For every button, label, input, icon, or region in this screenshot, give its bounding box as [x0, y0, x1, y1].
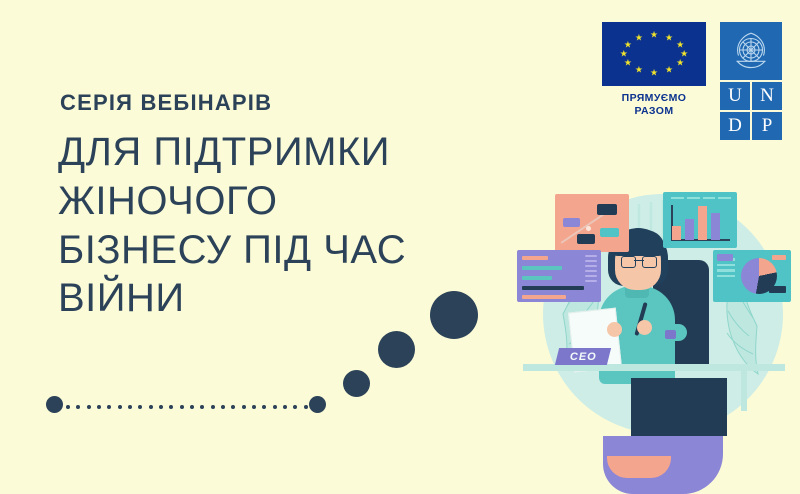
businesswoman-illustration: CEO — [505, 172, 800, 449]
eu-star-icon: ★ — [650, 68, 658, 77]
decor-small-dot — [283, 405, 287, 409]
logo-lockup: ★★★★★★★★★★★★ ПРЯМУЄМО РАЗОМ — [602, 22, 782, 140]
ceo-nameplate: CEO — [555, 348, 611, 365]
eu-star-icon: ★ — [650, 31, 658, 40]
decor-small-dot — [190, 405, 194, 409]
decor-dot-cap-right — [309, 396, 326, 413]
eu-star-icon: ★ — [635, 66, 643, 75]
left-hand — [607, 322, 622, 337]
decor-small-dot — [76, 405, 80, 409]
bar-chart-bar — [711, 213, 720, 240]
eu-logo: ★★★★★★★★★★★★ ПРЯМУЄМО РАЗОМ — [602, 22, 706, 118]
decor-small-dot — [293, 405, 297, 409]
decor-small-dot — [211, 405, 215, 409]
eu-star-icon: ★ — [624, 40, 632, 49]
flow-node-teal — [600, 228, 619, 237]
undp-letter-u: U — [720, 82, 750, 110]
task-list-row — [522, 256, 548, 260]
title-line-2: ЖІНОЧОГО — [58, 177, 488, 226]
flow-node-purple — [563, 218, 580, 227]
headline-block: СЕРІЯ ВЕБІНАРІВ ДЛЯ ПІДТРИМКИ ЖІНОЧОГО Б… — [58, 92, 488, 323]
eu-star-icon: ★ — [620, 50, 628, 59]
undp-letter-grid: U N D P — [720, 82, 782, 140]
poster-canvas: СЕРІЯ ВЕБІНАРІВ ДЛЯ ПІДТРИМКИ ЖІНОЧОГО Б… — [0, 0, 800, 449]
eu-star-icon: ★ — [676, 59, 684, 68]
decor-small-dot — [252, 405, 256, 409]
desk-surface — [523, 364, 785, 371]
decor-small-dot — [304, 405, 308, 409]
decor-small-dot — [159, 405, 163, 409]
decor-small-dot — [169, 405, 173, 409]
eu-caption-line-2: РАЗОМ — [622, 105, 687, 118]
decor-small-dot — [221, 405, 225, 409]
un-emblem-icon — [720, 22, 782, 80]
ceo-nameplate-label: CEO — [570, 351, 597, 363]
leg — [607, 456, 671, 478]
page-title: ДЛЯ ПІДТРИМКИ ЖІНОЧОГО БІЗНЕСУ ПІД ЧАС В… — [58, 128, 488, 323]
task-list-row — [522, 295, 566, 299]
flow-node-navy-bottom — [577, 234, 595, 244]
decor-small-dot — [97, 405, 101, 409]
task-list-row — [522, 276, 552, 280]
decor-small-dot — [149, 405, 153, 409]
decor-small-dot — [180, 405, 184, 409]
decor-small-dot — [66, 405, 70, 409]
title-line-4: ВІЙНИ — [58, 274, 488, 323]
decor-small-dot — [314, 405, 318, 409]
task-list-row — [522, 286, 584, 290]
title-line-3: БІЗНЕСУ ПІД ЧАС — [58, 226, 488, 275]
eu-star-icon: ★ — [665, 33, 673, 42]
flow-joint — [586, 226, 591, 231]
pie-tag-salmon — [772, 255, 786, 260]
glasses-icon — [621, 256, 657, 266]
bar-chart-bars — [672, 206, 730, 240]
decor-circle-small — [343, 370, 370, 397]
eu-star-icon: ★ — [665, 66, 673, 75]
task-list-row — [522, 266, 562, 270]
decor-small-dot — [107, 405, 111, 409]
decor-small-dot — [262, 405, 266, 409]
undp-letter-n: N — [752, 82, 782, 110]
decor-small-dot — [118, 405, 122, 409]
decor-small-dot — [200, 405, 204, 409]
eu-flag-icon: ★★★★★★★★★★★★ — [602, 22, 706, 86]
decor-small-dot — [87, 405, 91, 409]
bar-chart-panel — [663, 192, 737, 248]
decor-dot-cap-left — [46, 396, 63, 413]
decor-small-dot — [138, 405, 142, 409]
task-list-panel — [517, 250, 601, 302]
eu-star-icon: ★ — [635, 33, 643, 42]
bar-chart-header — [671, 197, 731, 201]
bar-chart-bar — [672, 226, 681, 240]
undp-logo: U N D P — [720, 22, 782, 140]
title-line-1: ДЛЯ ПІДТРИМКИ — [58, 128, 488, 177]
decor-small-dot — [273, 405, 277, 409]
wristwatch-icon — [665, 330, 676, 339]
eu-caption: ПРЯМУЄМО РАЗОМ — [622, 92, 687, 118]
pie-chart-panel — [713, 250, 791, 302]
eu-caption-line-1: ПРЯМУЄМО — [622, 92, 687, 105]
decor-small-dot — [128, 405, 132, 409]
decor-small-dot — [242, 405, 246, 409]
right-hand — [637, 320, 652, 335]
bar-chart-bar — [685, 219, 694, 240]
task-list-sidebar — [585, 255, 597, 282]
pie-tag-navy — [769, 286, 786, 293]
eyebrow-text: СЕРІЯ ВЕБІНАРІВ — [60, 92, 488, 114]
bar-chart-bar — [698, 206, 707, 240]
undp-letter-d: D — [720, 112, 750, 140]
chair-seat — [631, 378, 727, 436]
flowchart-panel — [555, 194, 629, 252]
desk-leg — [741, 371, 747, 411]
decor-dotted-line — [66, 404, 318, 409]
flow-node-navy-top — [597, 204, 617, 215]
undp-letter-p: P — [752, 112, 782, 140]
decor-circle-medium — [378, 331, 415, 368]
decor-small-dot — [231, 405, 235, 409]
pie-tag-purple — [717, 254, 733, 261]
eu-star-icon: ★ — [624, 59, 632, 68]
